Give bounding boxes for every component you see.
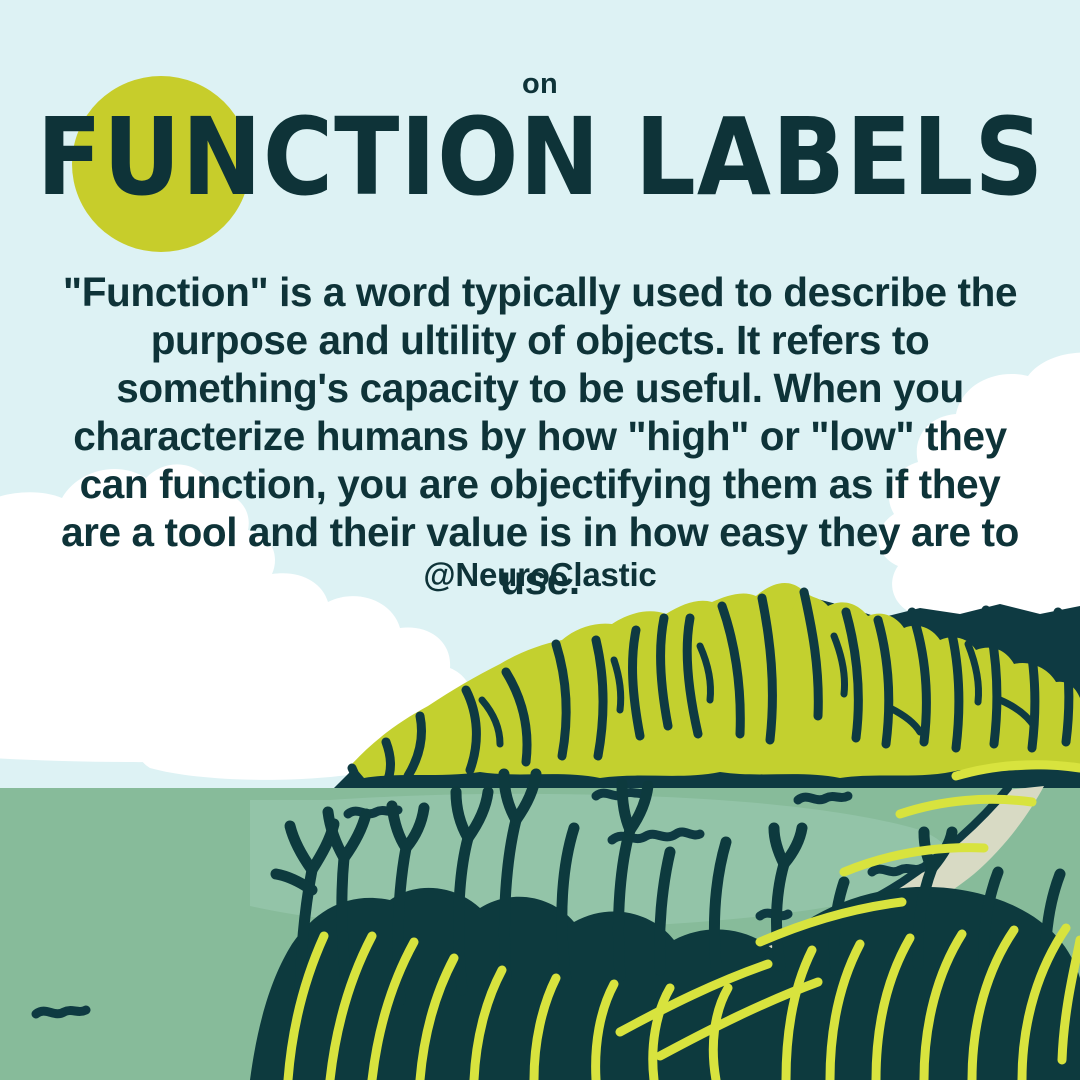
body-paragraph: "Function" is a word typically used to d… [50, 268, 1030, 604]
account-handle: @NeuroClastic [0, 556, 1080, 594]
poster-canvas: on FUNCTION LABELS "Function" is a word … [0, 0, 1080, 1080]
text-content-layer: on FUNCTION LABELS "Function" is a word … [0, 0, 1080, 1080]
page-title: FUNCTION LABELS [0, 100, 1080, 200]
page-title-text: FUNCTION LABELS [36, 100, 1044, 216]
